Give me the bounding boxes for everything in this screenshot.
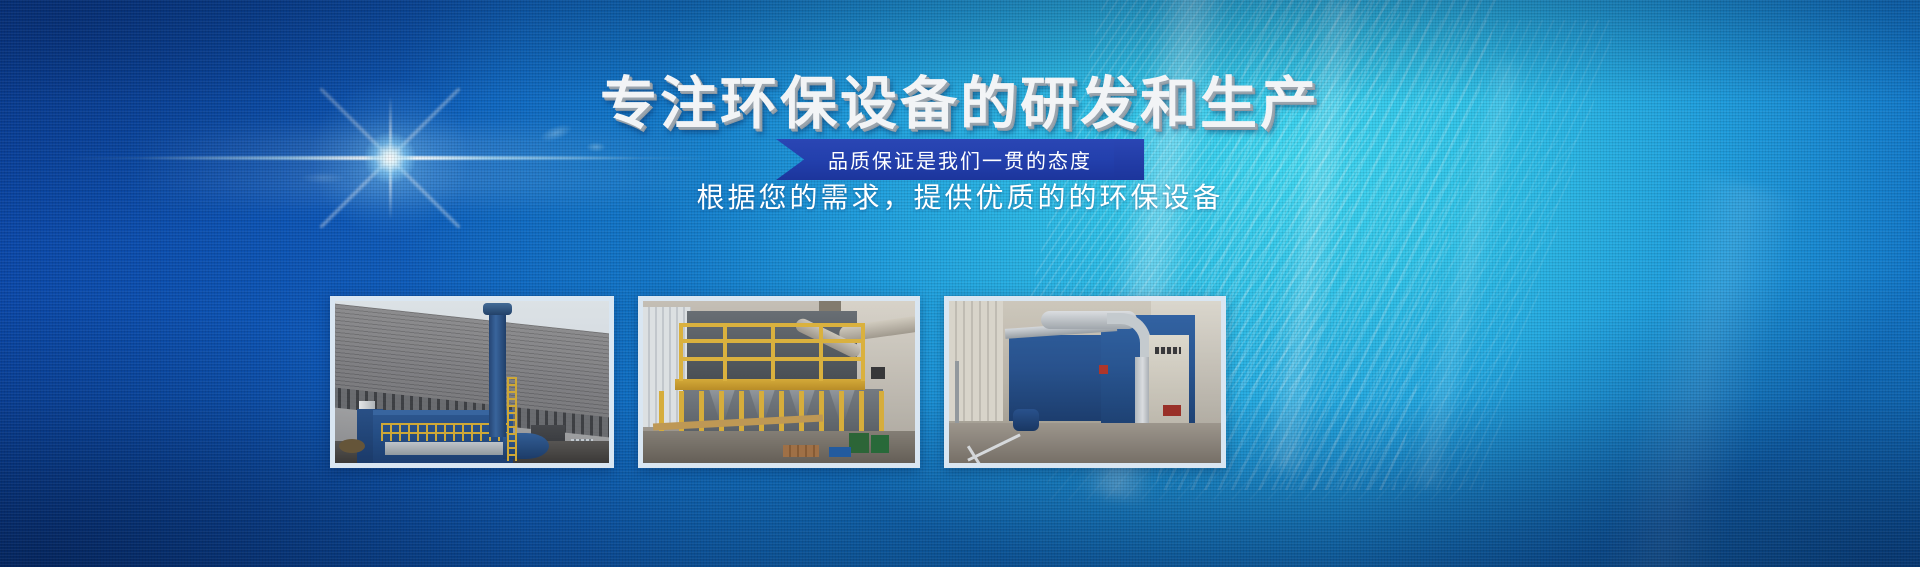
gallery-photo-1[interactable]: [330, 296, 614, 468]
banner-headline: 专注环保设备的研发和生产: [0, 58, 1920, 140]
gallery-photo-2[interactable]: [638, 296, 920, 468]
banner-subline: 根据您的需求，提供优质的的环保设备: [0, 176, 1920, 216]
ribbon-badge: 品质保证是我们一贯的态度: [776, 139, 1144, 180]
ribbon-badge-label: 品质保证是我们一贯的态度: [828, 145, 1092, 174]
photo-2-railing-top: [679, 323, 865, 381]
hero-banner: 专注环保设备的研发和生产 品质保证是我们一贯的态度 根据您的需求，提供优质的的环…: [0, 0, 1920, 567]
photo-1-scene: [335, 301, 609, 463]
banner-content: 专注环保设备的研发和生产 品质保证是我们一贯的态度 根据您的需求，提供优质的的环…: [0, 0, 1920, 567]
photo-gallery: [330, 296, 1590, 504]
gallery-photo-3[interactable]: [944, 296, 1226, 468]
photo-2-scene: [643, 301, 915, 463]
photo-3-scene: [949, 301, 1221, 463]
ribbon-badge-wrap: 品质保证是我们一贯的态度: [0, 139, 1920, 180]
